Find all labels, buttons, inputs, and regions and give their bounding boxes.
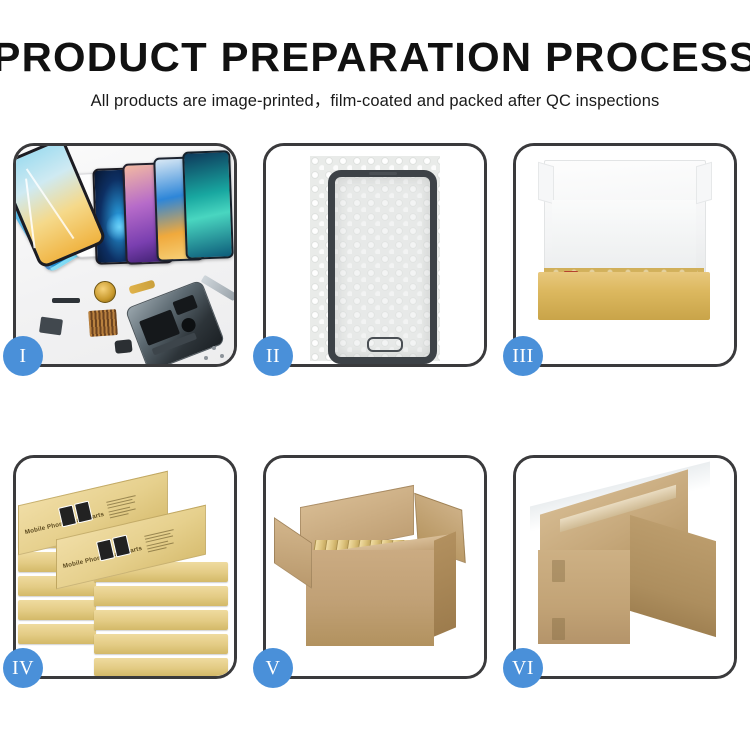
phone-chassis-graphic [125, 280, 226, 364]
step-badge-3: III [503, 336, 543, 376]
carton-handle-slot [552, 618, 565, 640]
wrapped-screen-graphic [328, 170, 437, 364]
infographic-page: PRODUCT PREPARATION PROCESS All products… [0, 0, 750, 750]
carton-side-panel [434, 531, 456, 636]
screw-icon [220, 354, 224, 358]
step-badge-6: VI [503, 648, 543, 688]
process-step-1: I [13, 143, 237, 367]
screw-icon [212, 346, 216, 350]
antenna-strip-part-icon [52, 298, 80, 303]
photo-phone-screens-and-parts [16, 146, 234, 364]
photo-bubble-wrapped-screen [266, 146, 484, 364]
carton-front-panel [306, 550, 434, 646]
process-step-3: III [513, 143, 737, 367]
flex-cable-part-icon [128, 280, 155, 295]
page-title: PRODUCT PREPARATION PROCESS [0, 33, 750, 81]
process-step-6: VI [513, 455, 737, 679]
screw-icon [204, 356, 208, 360]
carton-handle-slot [552, 560, 565, 582]
page-header: PRODUCT PREPARATION PROCESS All products… [0, 0, 750, 112]
box-flap-right [696, 162, 712, 205]
connector-grid-part-icon [88, 309, 118, 337]
photo-screen-in-open-kraft-box [516, 146, 734, 364]
bracket-part-icon [39, 317, 63, 336]
photo-open-shipping-carton [266, 458, 484, 676]
kraft-box-base-graphic [538, 272, 710, 320]
carton-right-panel [630, 515, 716, 637]
process-step-5: V [263, 455, 487, 679]
page-subtitle: All products are image-printed，film-coat… [0, 90, 750, 112]
process-step-grid: I II III [13, 143, 737, 679]
photo-stacked-kraft-boxes: Mobile Phone Spare Parts Mobile Phone Sp… [16, 458, 234, 676]
speaker-part-icon [114, 339, 132, 354]
kraft-box-stack: Mobile Phone Spare Parts Mobile Phone Sp… [16, 466, 234, 676]
speaker-coil-part-icon [94, 281, 116, 303]
phone-screen-teal-graphic [182, 150, 234, 260]
box-flap-left [538, 162, 554, 205]
process-step-2: II [263, 143, 487, 367]
foam-padding-graphic [552, 200, 696, 272]
process-step-4: Mobile Phone Spare Parts Mobile Phone Sp… [13, 455, 237, 679]
step-badge-4: IV [3, 648, 43, 688]
step-badge-1: I [3, 336, 43, 376]
step-badge-2: II [253, 336, 293, 376]
step-badge-5: V [253, 648, 293, 688]
photo-sealed-shipping-carton [516, 458, 734, 676]
